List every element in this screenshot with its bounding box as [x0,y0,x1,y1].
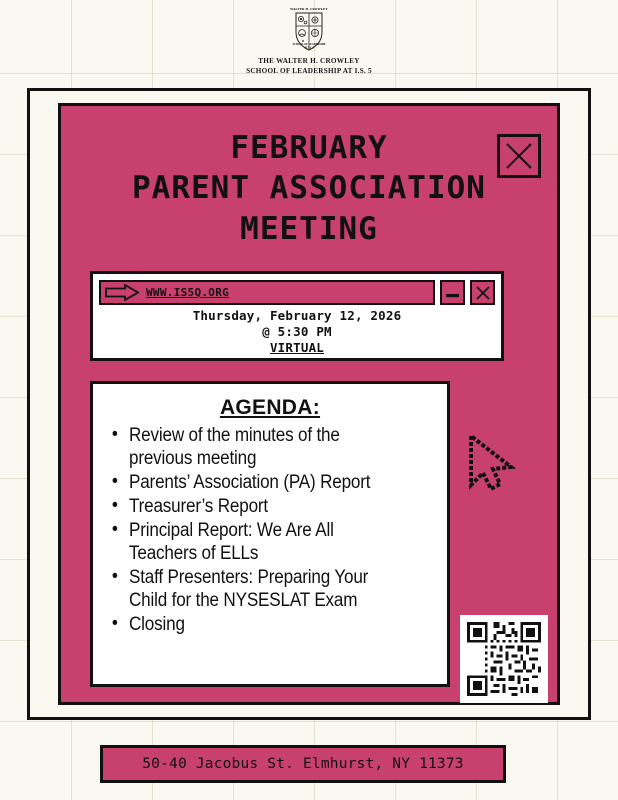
footer-address: 50-40 Jacobus St. Elmhurst, NY 11373 [100,745,506,783]
browser-window: WWW.IS5Q.ORG Thursday, February 12, 2026… [90,271,504,361]
browser-toolbar: WWW.IS5Q.ORG [99,280,495,305]
url-text: WWW.IS5Q.ORG [146,286,229,299]
qr-code-icon[interactable] [467,622,541,696]
agenda-title: AGENDA: [103,396,437,420]
school-name-line2: SCHOOL OF LEADERSHIP AT I.S. 5 [0,66,618,76]
list-item: Review of the minutes of the previous me… [129,424,403,470]
page-title: FEBRUARY PARENT ASSOCIATION MEETING [61,128,557,249]
agenda-list: Review of the minutes of the previous me… [103,424,437,636]
mouse-cursor-icon [465,431,535,493]
school-name: THE WALTER H. CROWLEY SCHOOL OF LEADERSH… [0,56,618,76]
poster-page: WALTER H. CROWLEY SCHOOL OF LEADERSHIP A… [0,0,618,800]
list-item: Principal Report: We Are All Teachers of… [129,519,403,565]
crest-bottom-text2: AT I.S. 5 [304,47,314,50]
list-item: Staff Presenters: Preparing Your Child f… [129,566,403,612]
forward-arrow-icon [105,284,139,301]
meeting-time: @ 5:30 PM [93,324,501,340]
minimize-icon[interactable] [440,280,465,305]
poster-panel: FEBRUARY PARENT ASSOCIATION MEETING WWW.… [58,103,560,705]
meeting-date: Thursday, February 12, 2026 [93,308,501,324]
meeting-details: Thursday, February 12, 2026 @ 5:30 PM VI… [93,308,501,356]
school-crest-logo: WALTER H. CROWLEY SCHOOL OF LEADERSHIP A… [280,2,338,54]
title-line-1: FEBRUARY [61,128,557,168]
qr-code-container [460,615,548,703]
title-line-3: MEETING [61,209,557,249]
url-input[interactable]: WWW.IS5Q.ORG [99,280,435,305]
page-header: WALTER H. CROWLEY SCHOOL OF LEADERSHIP A… [0,2,618,76]
list-item: Parents’ Association (PA) Report [129,471,403,494]
meeting-mode: VIRTUAL [93,340,501,356]
school-name-line1: THE WALTER H. CROWLEY [0,56,618,66]
agenda-window: AGENDA: Review of the minutes of the pre… [90,381,450,687]
title-line-2: PARENT ASSOCIATION [61,168,557,208]
list-item: Closing [129,613,403,636]
list-item: Treasurer’s Report [129,495,403,518]
crest-top-text: WALTER H. CROWLEY [290,7,328,11]
window-close-icon[interactable] [470,280,495,305]
close-icon[interactable] [497,134,541,178]
